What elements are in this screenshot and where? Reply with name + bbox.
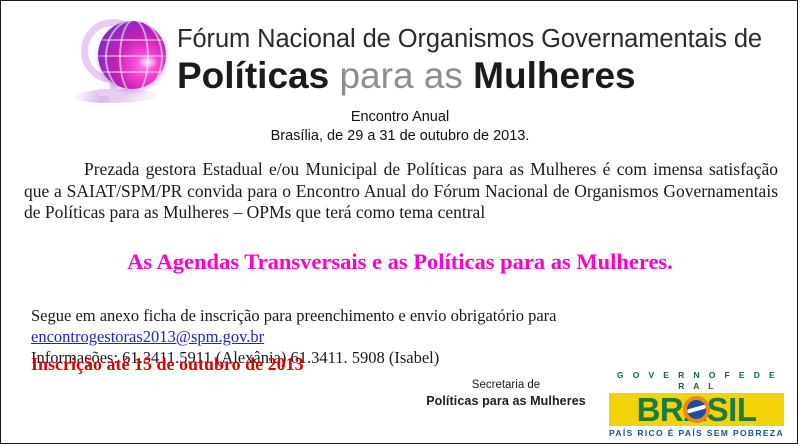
logo-line-1: Fórum Nacional de Organismos Governament… bbox=[177, 24, 747, 54]
brasil-yellow-band: BRASIL bbox=[609, 393, 784, 426]
header-banner: Fórum Nacional de Organismos Governament… bbox=[1, 1, 798, 105]
event-place-date: Brasília, de 29 a 31 de outubro de 2013. bbox=[1, 127, 798, 146]
venus-cross-icon bbox=[99, 89, 128, 96]
brasil-governo-federal-label: G O V E R N O F E D E R A L bbox=[611, 370, 784, 392]
invitation-page: Fórum Nacional de Organismos Governament… bbox=[0, 0, 798, 444]
logo-wordmark: Fórum Nacional de Organismos Governament… bbox=[177, 24, 747, 97]
logo-word-para-as: para as bbox=[329, 55, 473, 96]
logo-word-mulheres: Mulheres bbox=[473, 55, 635, 96]
contact-email-link[interactable]: encontrogestoras2013@spm.gov.br bbox=[31, 327, 264, 346]
event-title: Encontro Anual bbox=[1, 108, 798, 127]
spm-footer-line-1: Secretaria de bbox=[411, 378, 601, 393]
brasil-government-logo: G O V E R N O F E D E R A L BRASIL PAÍS … bbox=[609, 370, 784, 430]
brazil-flag-globe-icon bbox=[683, 396, 710, 423]
globe-parallel-1 bbox=[98, 39, 166, 41]
invitation-paragraph: Prezada gestora Estadual e/ou Municipal … bbox=[24, 159, 778, 224]
venus-globe-logo-icon bbox=[73, 13, 185, 105]
theme-headline: As Agendas Transversais e as Políticas p… bbox=[1, 249, 798, 275]
spm-footer-line-2: Políticas para as Mulheres bbox=[411, 393, 601, 409]
globe-parallel-3 bbox=[98, 71, 166, 73]
registration-info-text: Segue em anexo ficha de inscrição para p… bbox=[31, 306, 556, 325]
spm-footer-logo: Secretaria de Políticas para as Mulheres bbox=[411, 378, 601, 409]
registration-deadline: Inscrição até 15 de outubro de 2013 bbox=[31, 354, 304, 375]
logo-line-2: Políticas para as Mulheres bbox=[177, 54, 747, 97]
globe-icon bbox=[98, 21, 166, 89]
globe-highlight bbox=[138, 55, 158, 69]
brasil-tagline: PAÍS RICO É PAÍS SEM POBREZA bbox=[609, 427, 784, 440]
logo-word-politicas: Políticas bbox=[177, 55, 329, 96]
event-heading: Encontro Anual Brasília, de 29 a 31 de o… bbox=[1, 108, 798, 146]
